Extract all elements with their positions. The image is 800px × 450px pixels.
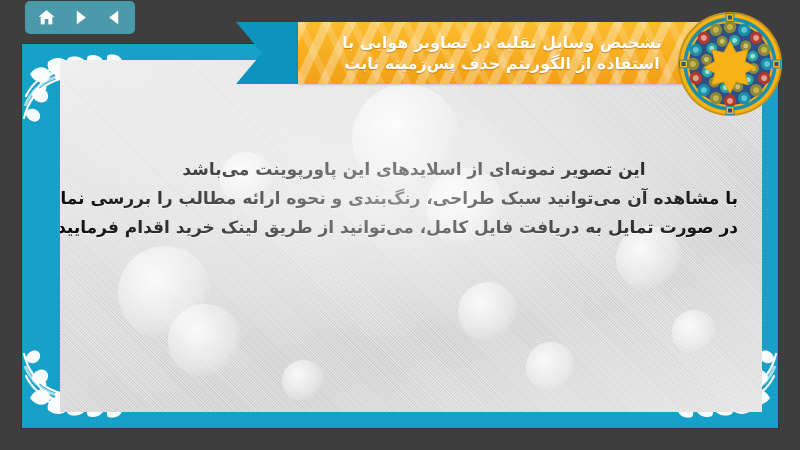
body-line-3: در صورت تمایل به دریافت فایل کامل، می‌تو… [90, 214, 738, 243]
bokeh-circle [672, 310, 716, 354]
persian-medallion-ornament [676, 10, 784, 118]
title-line-2: استفاده از الگوریتم حذف پس‌زمینه ثابت [344, 53, 659, 74]
bokeh-circle [458, 282, 518, 342]
title-line-1: تشخیص وسایل نقلیه در تصاویر هوایی با [342, 32, 662, 53]
bokeh-circle [168, 304, 242, 378]
body-line-2: با مشاهده آن می‌توانید سبک طراحی، رنگ‌بن… [90, 185, 738, 214]
slide-body-text: این تصویر نمونه‌ای از اسلایدهای این پاور… [90, 156, 738, 244]
next-slide-button[interactable] [66, 5, 94, 31]
decorative-slide-frame: این تصویر نمونه‌ای از اسلایدهای این پاور… [22, 44, 778, 428]
slide-title-banner: تشخیص وسایل نقلیه در تصاویر هوایی با است… [236, 14, 706, 92]
previous-slide-button[interactable] [100, 5, 128, 31]
slide-canvas: این تصویر نمونه‌ای از اسلایدهای این پاور… [0, 0, 800, 450]
body-line-1: این تصویر نمونه‌ای از اسلایدهای این پاور… [90, 156, 738, 185]
bokeh-circle [118, 246, 212, 340]
home-slide-button[interactable] [32, 5, 60, 31]
bokeh-circle [282, 360, 324, 402]
banner-gold-body: تشخیص وسایل نقلیه در تصاویر هوایی با است… [298, 22, 706, 84]
bokeh-circle [526, 342, 576, 392]
slide-content-panel: این تصویر نمونه‌ای از اسلایدهای این پاور… [60, 60, 762, 412]
slide-navigation-bar [25, 1, 135, 34]
